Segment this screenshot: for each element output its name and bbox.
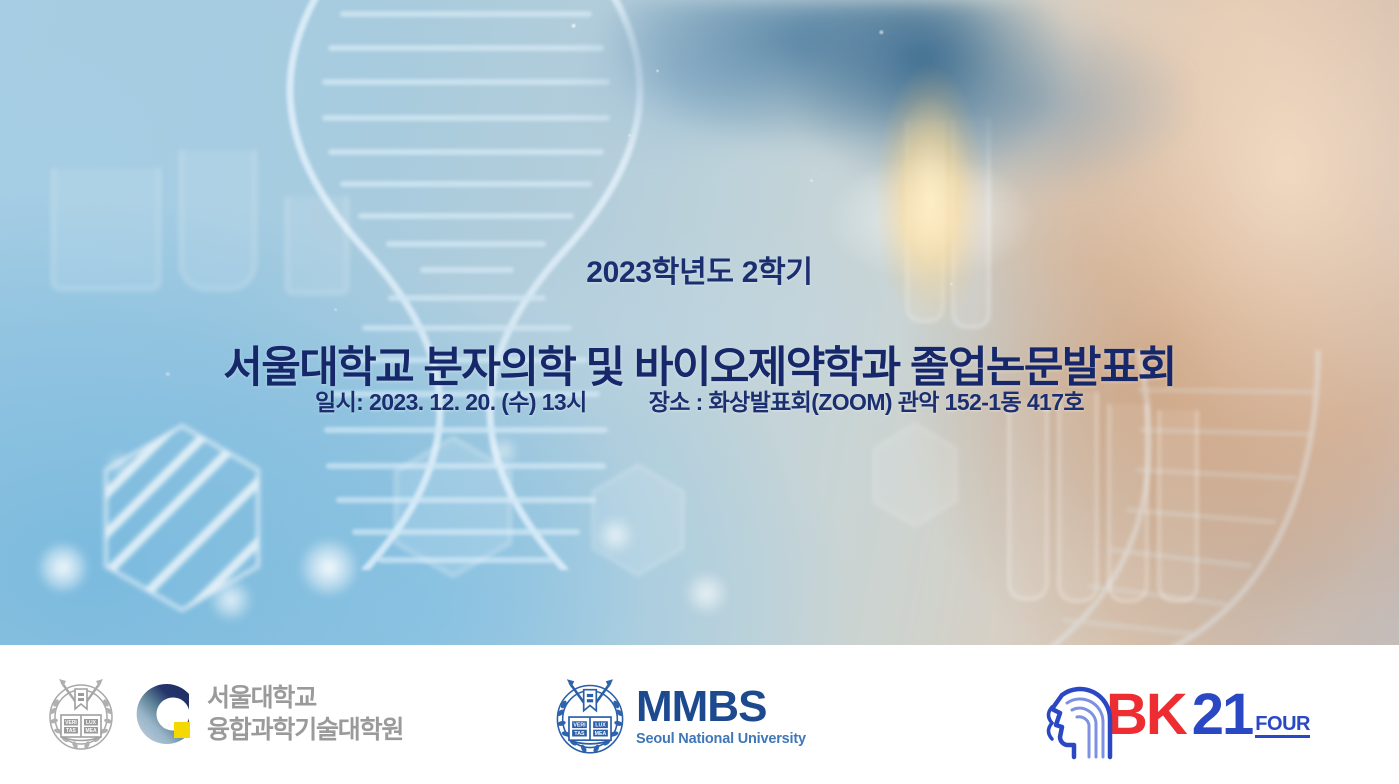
gscst-c-mark-icon <box>127 678 197 750</box>
svg-text:MEA: MEA <box>85 728 97 734</box>
gscst-wordmark: 서울대학교 융합과학기술대학원 <box>207 685 403 744</box>
bk21-head-profile-icon <box>1040 673 1112 757</box>
svg-text:LUX: LUX <box>595 723 606 729</box>
mmbs-subtitle: Seoul National University <box>636 732 806 747</box>
gscst-line-2: 융합과학기술대학원 <box>207 717 403 744</box>
event-venue: 장소 : 화상발표회(ZOOM) 관악 152-1동 417호 <box>649 383 1084 417</box>
event-date: 일시: 2023. 12. 20. (수) 13시 <box>315 383 587 417</box>
logo-bk21-four: BK 21 FOUR <box>1040 673 1310 757</box>
svg-text:LUX: LUX <box>86 720 97 726</box>
mmbs-name: MMBS <box>636 685 806 729</box>
poster-text-block: 2023학년도 2학기 서울대학교 분자의학 및 바이오제약학과 졸업논문발표회… <box>0 0 1399 645</box>
svg-text:MEA: MEA <box>595 731 607 737</box>
logo-row: VERI LUX TAS MEA <box>0 645 1399 784</box>
svg-text:VERI: VERI <box>65 720 77 726</box>
svg-text:TAS: TAS <box>66 728 76 734</box>
bk21-four-text: FOUR <box>1255 714 1310 738</box>
bk21-number: 21 <box>1192 686 1253 744</box>
snu-crest-icon: VERI LUX TAS MEA <box>45 675 117 753</box>
logo-snu-gscst: VERI LUX TAS MEA <box>45 675 403 753</box>
footer-logo-bar: VERI LUX TAS MEA <box>0 645 1399 784</box>
svg-text:VERI: VERI <box>573 723 586 729</box>
snu-crest-icon: VERI LUX TAS MEA <box>552 675 628 757</box>
poster-root: 2023학년도 2학기 서울대학교 분자의학 및 바이오제약학과 졸업논문발표회… <box>0 0 1399 784</box>
logo-mmbs: VERI LUX TAS MEA MMBS Seou <box>552 675 806 757</box>
event-meta-row: 일시: 2023. 12. 20. (수) 13시 장소 : 화상발표회(ZOO… <box>0 383 1399 417</box>
semester-kicker: 2023학년도 2학기 <box>0 247 1399 291</box>
bk21-wordmark: BK 21 FOUR <box>1106 686 1310 744</box>
mmbs-wordmark: MMBS Seoul National University <box>636 685 806 747</box>
gscst-line-1: 서울대학교 <box>207 685 403 712</box>
svg-text:TAS: TAS <box>574 731 585 737</box>
banner-photo: 2023학년도 2학기 서울대학교 분자의학 및 바이오제약학과 졸업논문발표회… <box>0 0 1399 645</box>
